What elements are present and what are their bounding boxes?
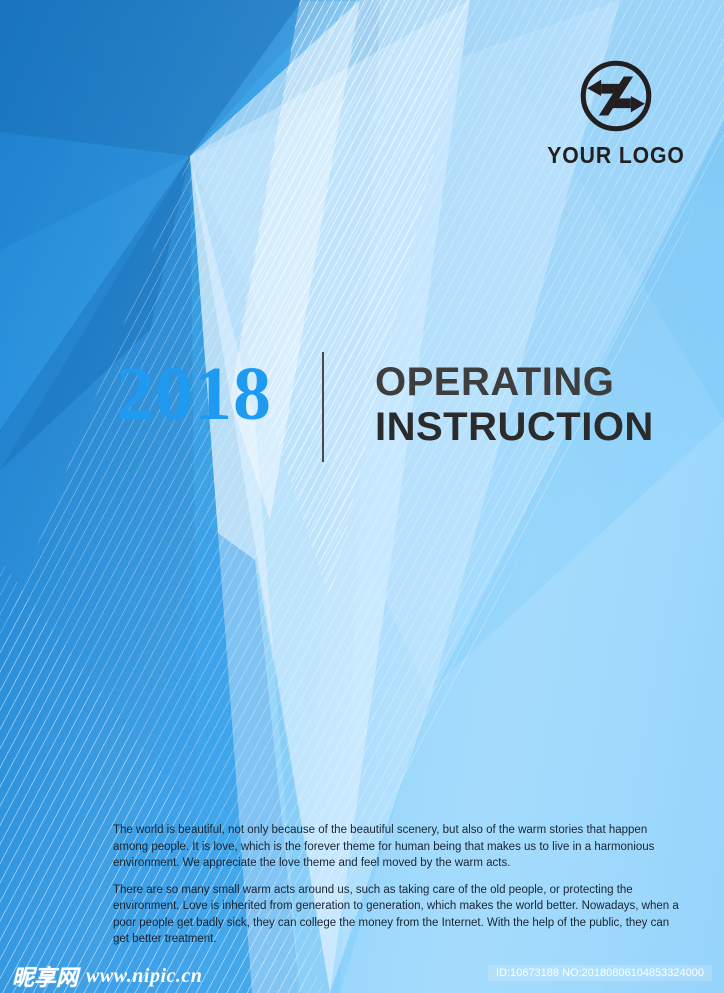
title-divider	[322, 352, 324, 462]
logo-block: YOUR LOGO	[536, 57, 696, 167]
watermark-id-badge: ID:10673188 NO:20180806104853324000	[488, 965, 712, 981]
watermark-footer: 昵享网 www.nipic.cn ID:10673188 NO:20180806…	[0, 955, 724, 993]
poster-title-line1: OPERATING	[375, 360, 654, 405]
poster-title: OPERATING INSTRUCTION	[375, 360, 654, 450]
poster-content: YOUR LOGO 2018 OPERATING INSTRUCTION The…	[0, 0, 724, 993]
body-paragraph-2: There are so many small warm acts around…	[113, 882, 685, 948]
poster-year: 2018	[116, 356, 272, 432]
logo-text: YOUR LOGO	[542, 144, 689, 167]
watermark-url: www.nipic.cn	[86, 965, 202, 988]
watermark-chinese-logo: 昵享网	[12, 960, 78, 992]
body-copy: The world is beautiful, not only because…	[113, 822, 685, 948]
watermark-brand: 昵享网 www.nipic.cn	[12, 960, 202, 992]
poster-canvas: YOUR LOGO 2018 OPERATING INSTRUCTION The…	[0, 0, 724, 993]
poster-title-line2: INSTRUCTION	[375, 405, 654, 450]
circle-z-logo-icon	[577, 57, 655, 135]
body-paragraph-1: The world is beautiful, not only because…	[113, 822, 685, 872]
